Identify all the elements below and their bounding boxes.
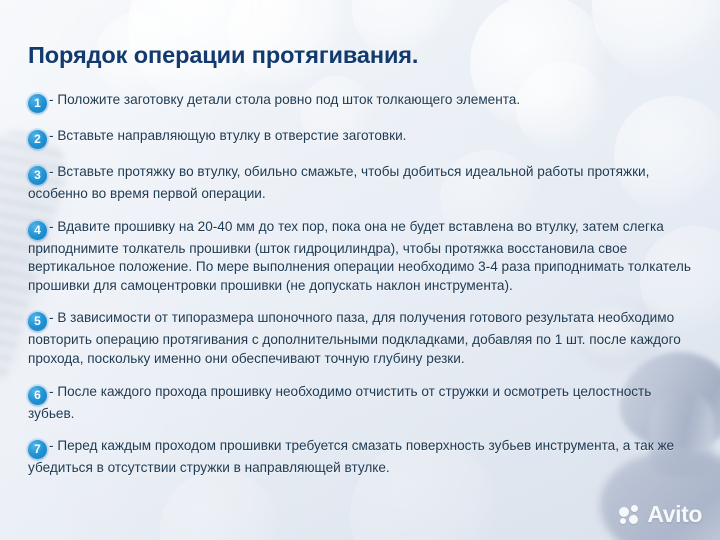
list-item: 1- Положите заготовку детали стола ровно…: [28, 91, 696, 113]
bokeh-circle: [160, 470, 280, 540]
step-body: Вставьте направляющую втулку в отверстие…: [57, 128, 406, 143]
step-text: - Положите заготовку детали стола ровно …: [49, 92, 520, 107]
step-separator: -: [49, 128, 54, 143]
step-body: После каждого прохода прошивку необходим…: [28, 384, 651, 421]
avito-watermark: Avito: [619, 501, 702, 528]
list-item: 4- Вдавите прошивку на 20-40 мм до тех п…: [28, 218, 696, 296]
step-text: - Вдавите прошивку на 20-40 мм до тех по…: [28, 219, 691, 293]
step-separator: -: [49, 438, 54, 453]
poster-content: Порядок операции протягивания. 1- Положи…: [0, 0, 720, 478]
avito-dots-logo-icon: [619, 505, 643, 525]
steps-list: 1- Положите заготовку детали стола ровно…: [28, 91, 696, 478]
page-title: Порядок операции протягивания.: [28, 42, 696, 69]
step-body: В зависимости от типоразмера шпоночного …: [28, 310, 681, 366]
step-separator: -: [49, 92, 54, 107]
avito-brand-label: Avito: [647, 501, 702, 528]
poster-canvas: Порядок операции протягивания. 1- Положи…: [0, 0, 720, 540]
step-body: Перед каждым проходом прошивки требуется…: [28, 438, 674, 475]
step-number-badge: 7: [28, 440, 47, 459]
step-text: - В зависимости от типоразмера шпоночног…: [28, 310, 681, 366]
step-separator: -: [49, 384, 54, 399]
step-number-badge: 3: [28, 166, 47, 185]
list-item: 6- После каждого прохода прошивку необхо…: [28, 383, 696, 424]
step-number-badge: 2: [28, 130, 47, 149]
step-number-badge: 1: [28, 94, 47, 113]
step-number-badge: 4: [28, 221, 47, 240]
list-item: 3- Вставьте протяжку во втулку, обильно …: [28, 163, 696, 204]
step-separator: -: [49, 164, 54, 179]
list-item: 5- В зависимости от типоразмера шпоночно…: [28, 309, 696, 368]
list-item: 2- Вставьте направляющую втулку в отверс…: [28, 127, 696, 149]
list-item: 7- Перед каждым проходом прошивки требуе…: [28, 437, 696, 478]
step-text: - Перед каждым проходом прошивки требует…: [28, 438, 674, 475]
step-separator: -: [49, 310, 54, 325]
step-text: - Вставьте направляющую втулку в отверст…: [49, 128, 406, 143]
step-text: - После каждого прохода прошивку необход…: [28, 384, 651, 421]
step-body: Положите заготовку детали стола ровно по…: [57, 92, 520, 107]
step-body: Вдавите прошивку на 20-40 мм до тех пор,…: [28, 219, 691, 293]
step-number-badge: 6: [28, 386, 47, 405]
step-body: Вставьте протяжку во втулку, обильно сма…: [28, 164, 649, 201]
step-text: - Вставьте протяжку во втулку, обильно с…: [28, 164, 649, 201]
step-separator: -: [49, 219, 54, 234]
step-number-badge: 5: [28, 312, 47, 331]
